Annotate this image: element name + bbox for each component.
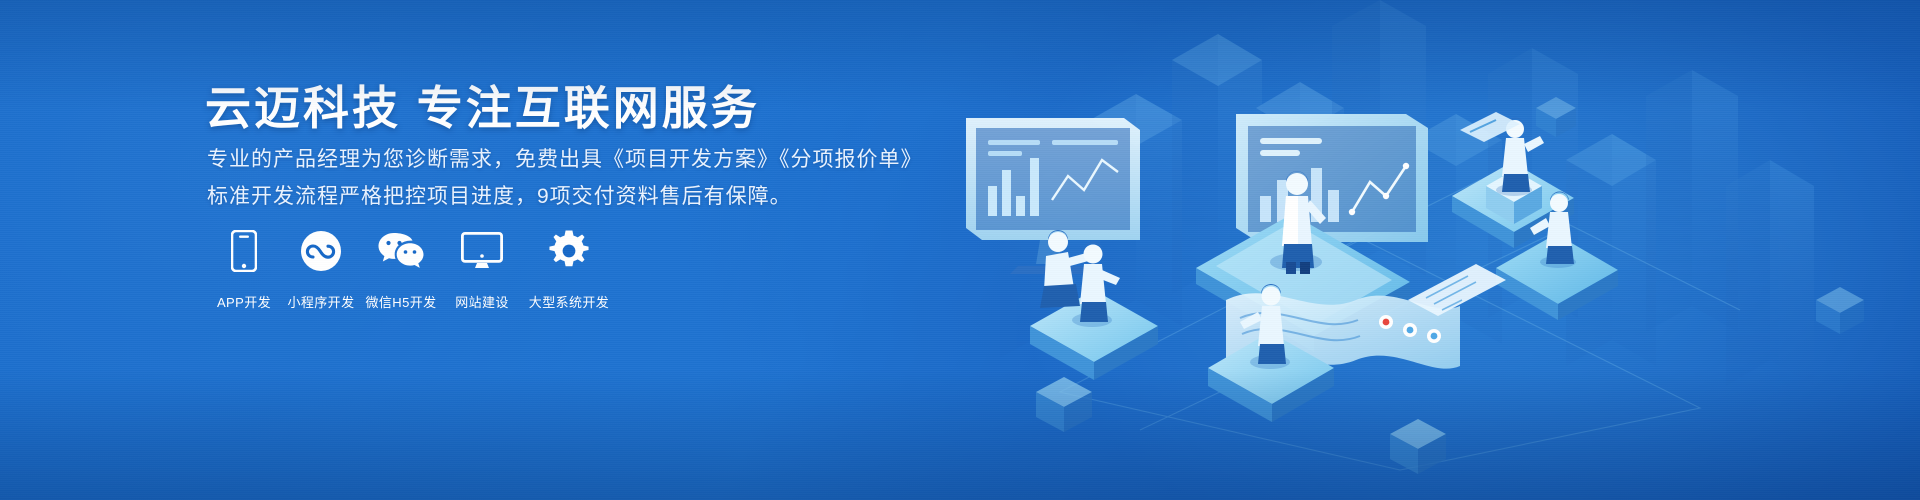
monitor-icon: [461, 228, 503, 274]
service-label: 大型系统开发: [529, 292, 609, 311]
page-title: 云迈科技 专注互联网服务: [205, 72, 760, 138]
illustration-isometric-tech-scene: [940, 0, 1920, 500]
service-item-large-system[interactable]: 大型系统开发: [521, 228, 617, 311]
mini-program-icon: [300, 228, 342, 274]
gear-icon: [548, 228, 590, 274]
subtitle-line-2: 标准开发流程严格把控项目进度，9项交付资料售后有保障。: [207, 180, 792, 210]
subtitle-line-1: 专业的产品经理为您诊断需求，免费出具《项目开发方案》《分项报价单》: [207, 143, 923, 173]
service-label: 小程序开发: [287, 292, 354, 311]
hero-banner: 云迈科技 专注互联网服务 专业的产品经理为您诊断需求，免费出具《项目开发方案》《…: [0, 0, 1920, 500]
banner-copy: 云迈科技 专注互联网服务 专业的产品经理为您诊断需求，免费出具《项目开发方案》《…: [205, 0, 965, 500]
service-item-mini-program[interactable]: 小程序开发: [283, 228, 359, 311]
service-item-wechat-h5[interactable]: 微信H5开发: [359, 228, 443, 311]
service-label: APP开发: [217, 292, 271, 311]
analytics-panel: [1236, 114, 1428, 242]
mobile-phone-icon: [231, 228, 257, 274]
service-label: 微信H5开发: [365, 292, 436, 311]
service-label: 网站建设: [455, 292, 509, 311]
service-list: APP开发 小程序开发: [205, 228, 617, 311]
service-item-website[interactable]: 网站建设: [443, 228, 521, 311]
service-item-app[interactable]: APP开发: [205, 228, 283, 311]
wechat-icon: [378, 228, 424, 274]
